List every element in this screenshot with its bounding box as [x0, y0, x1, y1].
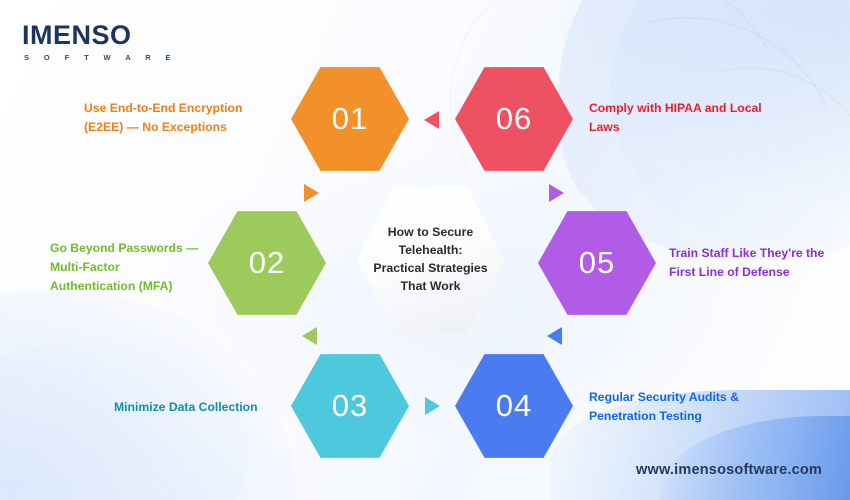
step-label-03: Minimize Data Collection [114, 398, 284, 417]
logo-wordmark: IMENSO [22, 22, 177, 49]
step-number-03: 03 [332, 390, 368, 421]
step-hexagon-01[interactable]: 01 [291, 65, 409, 173]
triangle-right-icon-step-01 [304, 184, 319, 202]
step-number-06: 06 [496, 103, 532, 134]
triangle-left-icon-step-06 [424, 111, 439, 129]
step-hexagon-04[interactable]: 04 [455, 352, 573, 460]
step-label-01: Use End-to-End Encryption (E2EE) — No Ex… [84, 99, 274, 137]
triangle-right-icon-step-05 [549, 184, 564, 202]
footer-website-url[interactable]: www.imensosoftware.com [636, 462, 822, 478]
step-hexagon-05[interactable]: 05 [538, 209, 656, 317]
center-title: How to Secure Telehealth: Practical Stra… [373, 224, 488, 295]
background-corner-bottom-right-accent [660, 416, 850, 500]
center-hexagon: How to Secure Telehealth: Practical Stra… [357, 185, 504, 335]
step-label-05: Train Staff Like They're the First Line … [669, 244, 839, 282]
step-hexagon-06[interactable]: 06 [455, 65, 573, 173]
step-label-02: Go Beyond Passwords — Multi-Factor Authe… [50, 239, 202, 296]
background-blob-bottom-left [0, 340, 250, 500]
logo-tagline: S O F T W A R E [24, 54, 177, 62]
step-hexagon-02[interactable]: 02 [208, 209, 326, 317]
step-label-06: Comply with HIPAA and Local Laws [589, 99, 764, 137]
step-hexagon-03[interactable]: 03 [291, 352, 409, 460]
step-number-02: 02 [249, 247, 285, 278]
step-number-05: 05 [579, 247, 615, 278]
triangle-right-icon-step-03 [425, 397, 440, 415]
brand-logo: IMENSO S O F T W A R E [22, 22, 177, 62]
step-label-04: Regular Security Audits & Penetration Te… [589, 388, 764, 426]
infographic-canvas: IMENSO S O F T W A R E How to Secure Tel… [0, 0, 850, 500]
triangle-left-icon-step-02 [302, 327, 317, 345]
step-number-01: 01 [332, 103, 368, 134]
triangle-left-icon-step-04 [547, 327, 562, 345]
step-number-04: 04 [496, 390, 532, 421]
